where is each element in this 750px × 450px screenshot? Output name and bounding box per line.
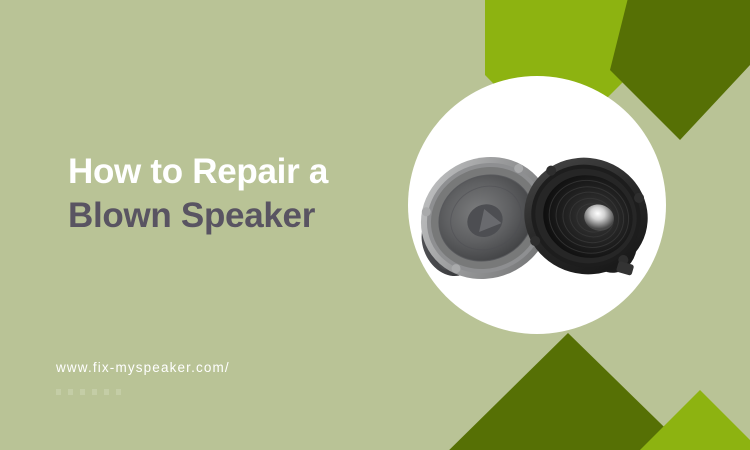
speaker-right-terminal	[616, 261, 634, 276]
headline-line-2: Blown Speaker	[68, 194, 398, 238]
decor-dot	[116, 389, 121, 395]
blog-header-banner: How to Repair a Blown Speaker www.fix-my…	[0, 0, 750, 450]
headline-block: How to Repair a Blown Speaker	[68, 150, 398, 238]
decor-dot	[104, 389, 109, 395]
decor-dot	[56, 389, 61, 395]
decor-dot	[68, 389, 73, 395]
site-url-block: www.fix-myspeaker.com/	[56, 360, 230, 395]
decorative-dot-row	[56, 389, 230, 395]
headline-line-1: How to Repair a	[68, 150, 398, 194]
speaker-product-illustration	[408, 76, 666, 334]
site-url-text: www.fix-myspeaker.com/	[56, 360, 230, 375]
speaker-right-black	[510, 143, 661, 289]
decor-dot	[80, 389, 85, 395]
page-title: How to Repair a Blown Speaker	[68, 150, 398, 238]
decor-dot	[92, 389, 97, 395]
